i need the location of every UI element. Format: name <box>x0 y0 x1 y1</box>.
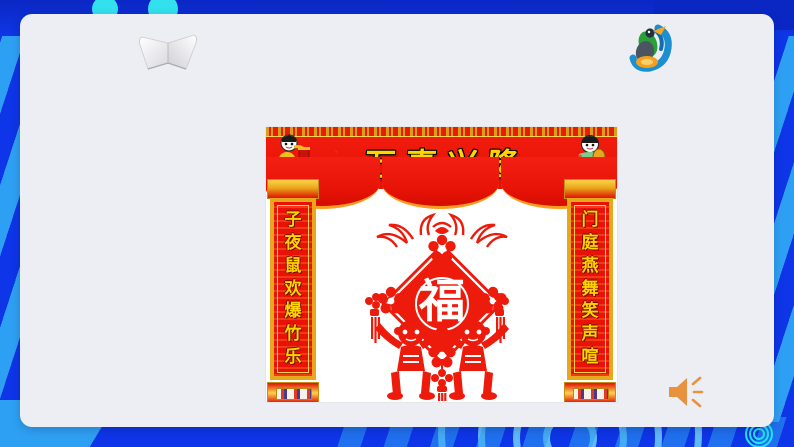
slide-stage: 万事兴隆 <box>0 0 794 447</box>
left-couplet-char: 夜 <box>285 235 302 252</box>
left-couplet-char: 鼠 <box>285 258 302 275</box>
left-couplet-cap <box>267 179 319 199</box>
right-couplet-foot <box>564 382 616 403</box>
left-couplet-char: 竹 <box>285 326 302 343</box>
fu-character: 福 <box>418 274 465 328</box>
swirl-logo-icon <box>628 22 674 74</box>
right-couplet-char: 燕 <box>582 258 599 275</box>
speaker-sound-icon[interactable] <box>665 372 709 412</box>
left-couplet-char: 欢 <box>285 281 302 298</box>
left-couplet-body: 子 夜 鼠 欢 爆 竹 乐 <box>270 198 316 380</box>
right-couplet-char: 门 <box>582 212 599 229</box>
right-couplet-char: 庭 <box>582 235 599 252</box>
slide-card: 万事兴隆 <box>20 14 774 427</box>
chinese-new-year-picture: 万事兴隆 <box>265 126 618 403</box>
left-couplet-char: 乐 <box>285 349 302 366</box>
left-couplet-char: 子 <box>285 212 302 229</box>
banner-fret-pattern <box>266 127 617 137</box>
left-couplet-banner: 子 夜 鼠 欢 爆 竹 乐 <box>270 179 316 403</box>
right-couplet-char: 声 <box>582 326 599 343</box>
open-book-icon <box>132 27 204 75</box>
right-couplet-banner: 门 庭 燕 舞 笑 声 喧 <box>567 179 613 403</box>
right-couplet-char: 舞 <box>582 281 599 298</box>
left-couplet-foot <box>267 382 319 403</box>
fu-papercut-artwork: 福 <box>347 209 537 401</box>
right-couplet-char: 喧 <box>582 349 599 366</box>
left-couplet-char: 爆 <box>285 303 302 320</box>
right-couplet-body: 门 庭 燕 舞 笑 声 喧 <box>567 198 613 380</box>
right-couplet-cap <box>564 179 616 199</box>
right-couplet-char: 笑 <box>582 303 599 320</box>
